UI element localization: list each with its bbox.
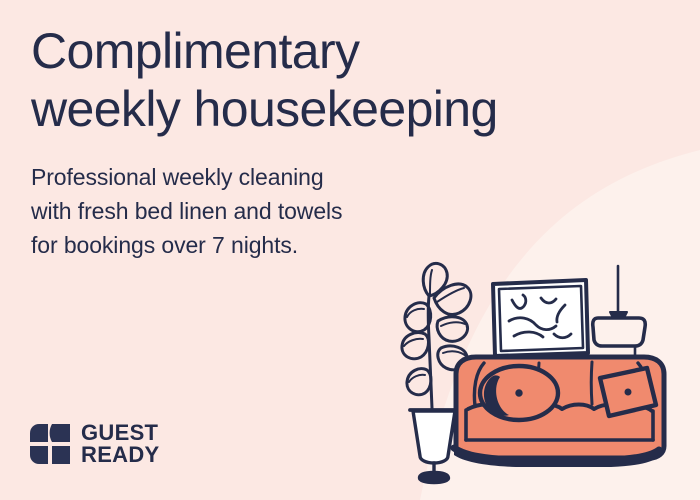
promo-banner: Complimentary weekly housekeeping Profes…: [0, 0, 700, 500]
living-room-illustration: [396, 258, 700, 500]
banner-subcopy: Professional weekly cleaning with fresh …: [31, 160, 451, 262]
four-square-grid-icon: [30, 422, 70, 466]
sofa-icon: [454, 357, 664, 467]
logo-line-1: GUEST: [81, 422, 160, 444]
framed-artwork-icon: [493, 280, 588, 356]
pendant-lamp-icon: [593, 266, 646, 366]
page-title: Complimentary weekly housekeeping: [31, 22, 651, 138]
guest-ready-logo: GUEST READY: [30, 422, 160, 466]
logo-line-2: READY: [81, 444, 160, 466]
